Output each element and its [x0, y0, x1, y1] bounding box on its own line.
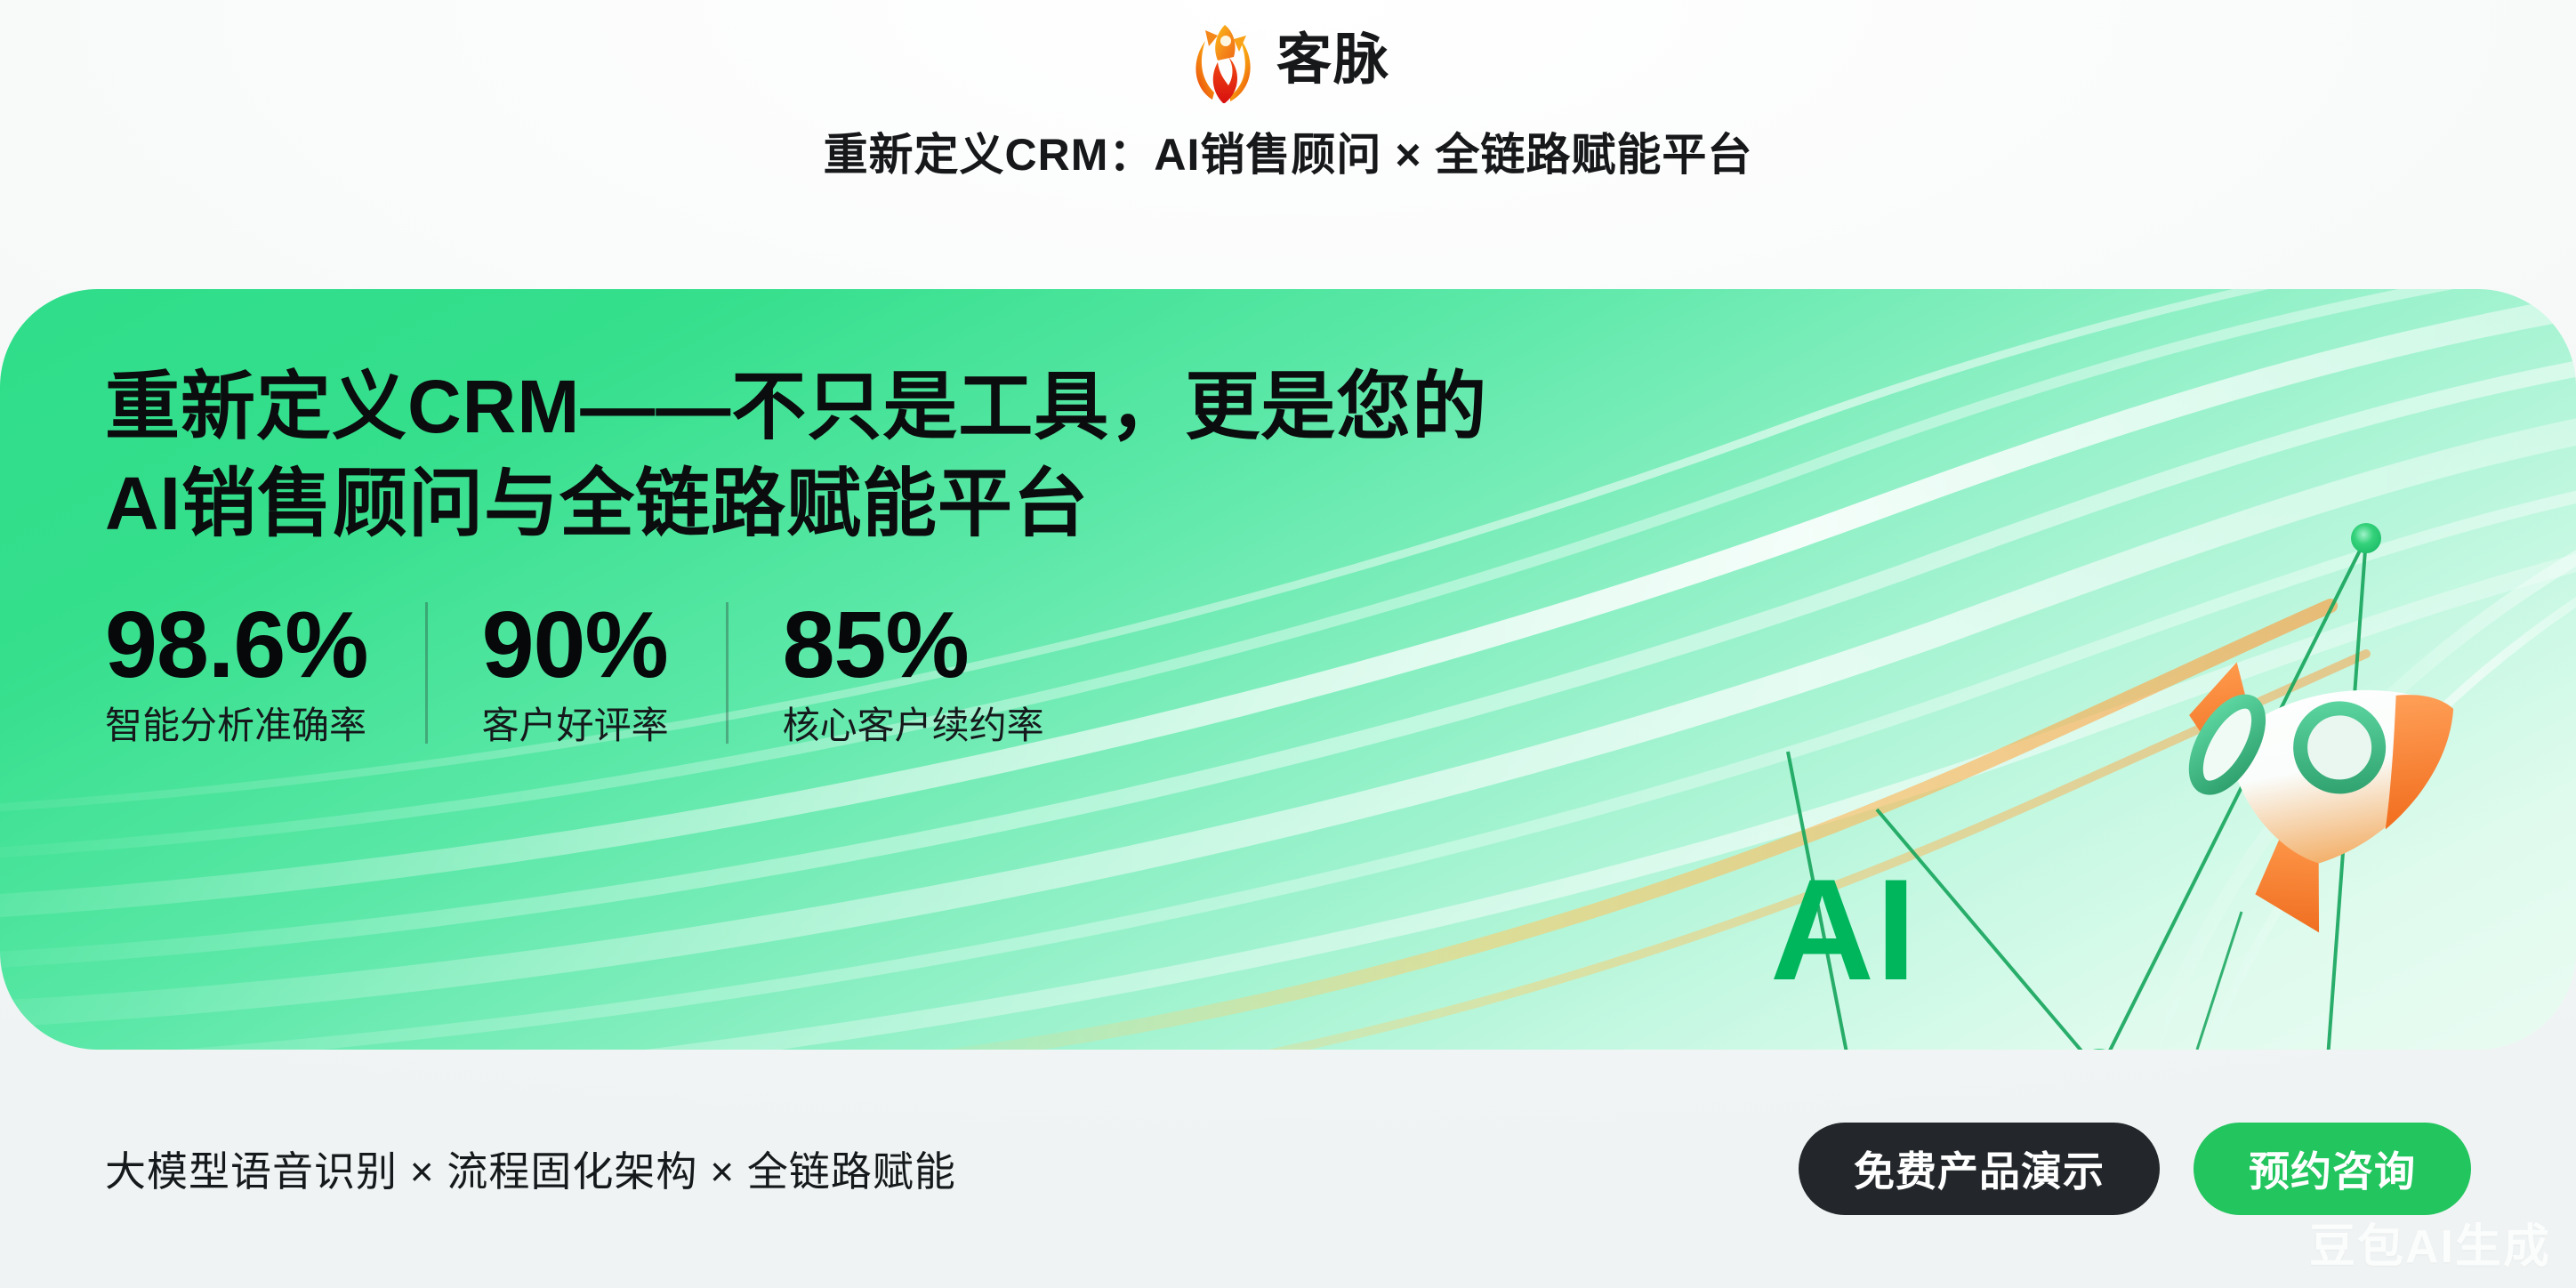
- book-consultation-button[interactable]: 预约咨询: [2194, 1123, 2471, 1215]
- feature-tagline: 大模型语音识别 × 流程固化架构 × 全链路赋能: [105, 1139, 956, 1198]
- stat-value: 85%: [783, 597, 1044, 693]
- hero-content: 重新定义CRM——不只是工具，更是您的 AI销售顾问与全链路赋能平台 98.6%…: [105, 358, 1617, 747]
- cta-button-group: 免费产品演示 预约咨询: [1799, 1123, 2471, 1215]
- page-header: 客脉 重新定义CRM：AI销售顾问 × 全链路赋能平台: [0, 0, 2576, 289]
- stats-row: 98.6% 智能分析准确率 90% 客户好评率 85% 核心客户续约率: [105, 597, 1617, 746]
- brand-lockup: 客脉: [1186, 16, 1390, 105]
- ai-badge-label: AI: [1770, 849, 1918, 1010]
- stat-label: 核心客户续约率: [783, 705, 1044, 746]
- stat-value: 90%: [482, 597, 669, 693]
- headline-line-1: 重新定义CRM——不只是工具，更是您的: [105, 358, 1617, 455]
- headline-line-2: AI销售顾问与全链路赋能平台: [105, 455, 1617, 552]
- stat-item: 90% 客户好评率: [425, 597, 726, 746]
- stat-value: 98.6%: [105, 597, 368, 693]
- stat-label: 客户好评率: [482, 705, 669, 746]
- rocket-flame-logo-icon: [1186, 18, 1260, 103]
- stat-item: 85% 核心客户续约率: [726, 597, 1101, 746]
- free-demo-button[interactable]: 免费产品演示: [1799, 1123, 2160, 1215]
- hero-headline: 重新定义CRM——不只是工具，更是您的 AI销售顾问与全链路赋能平台: [105, 358, 1617, 552]
- brand-name: 客脉: [1276, 33, 1390, 88]
- stat-item: 98.6% 智能分析准确率: [105, 597, 425, 746]
- ai-badge: AI: [1770, 858, 1918, 1002]
- hero-card: AI 重新定义CRM——不只是工具，更是您的 AI销售顾问与全链路赋能平台 98…: [0, 289, 2576, 1050]
- page-subtitle: 重新定义CRM：AI销售顾问 × 全链路赋能平台: [824, 119, 1753, 183]
- page-footer: 大模型语音识别 × 流程固化架构 × 全链路赋能 免费产品演示 预约咨询: [0, 1050, 2576, 1288]
- stat-label: 智能分析准确率: [105, 705, 368, 746]
